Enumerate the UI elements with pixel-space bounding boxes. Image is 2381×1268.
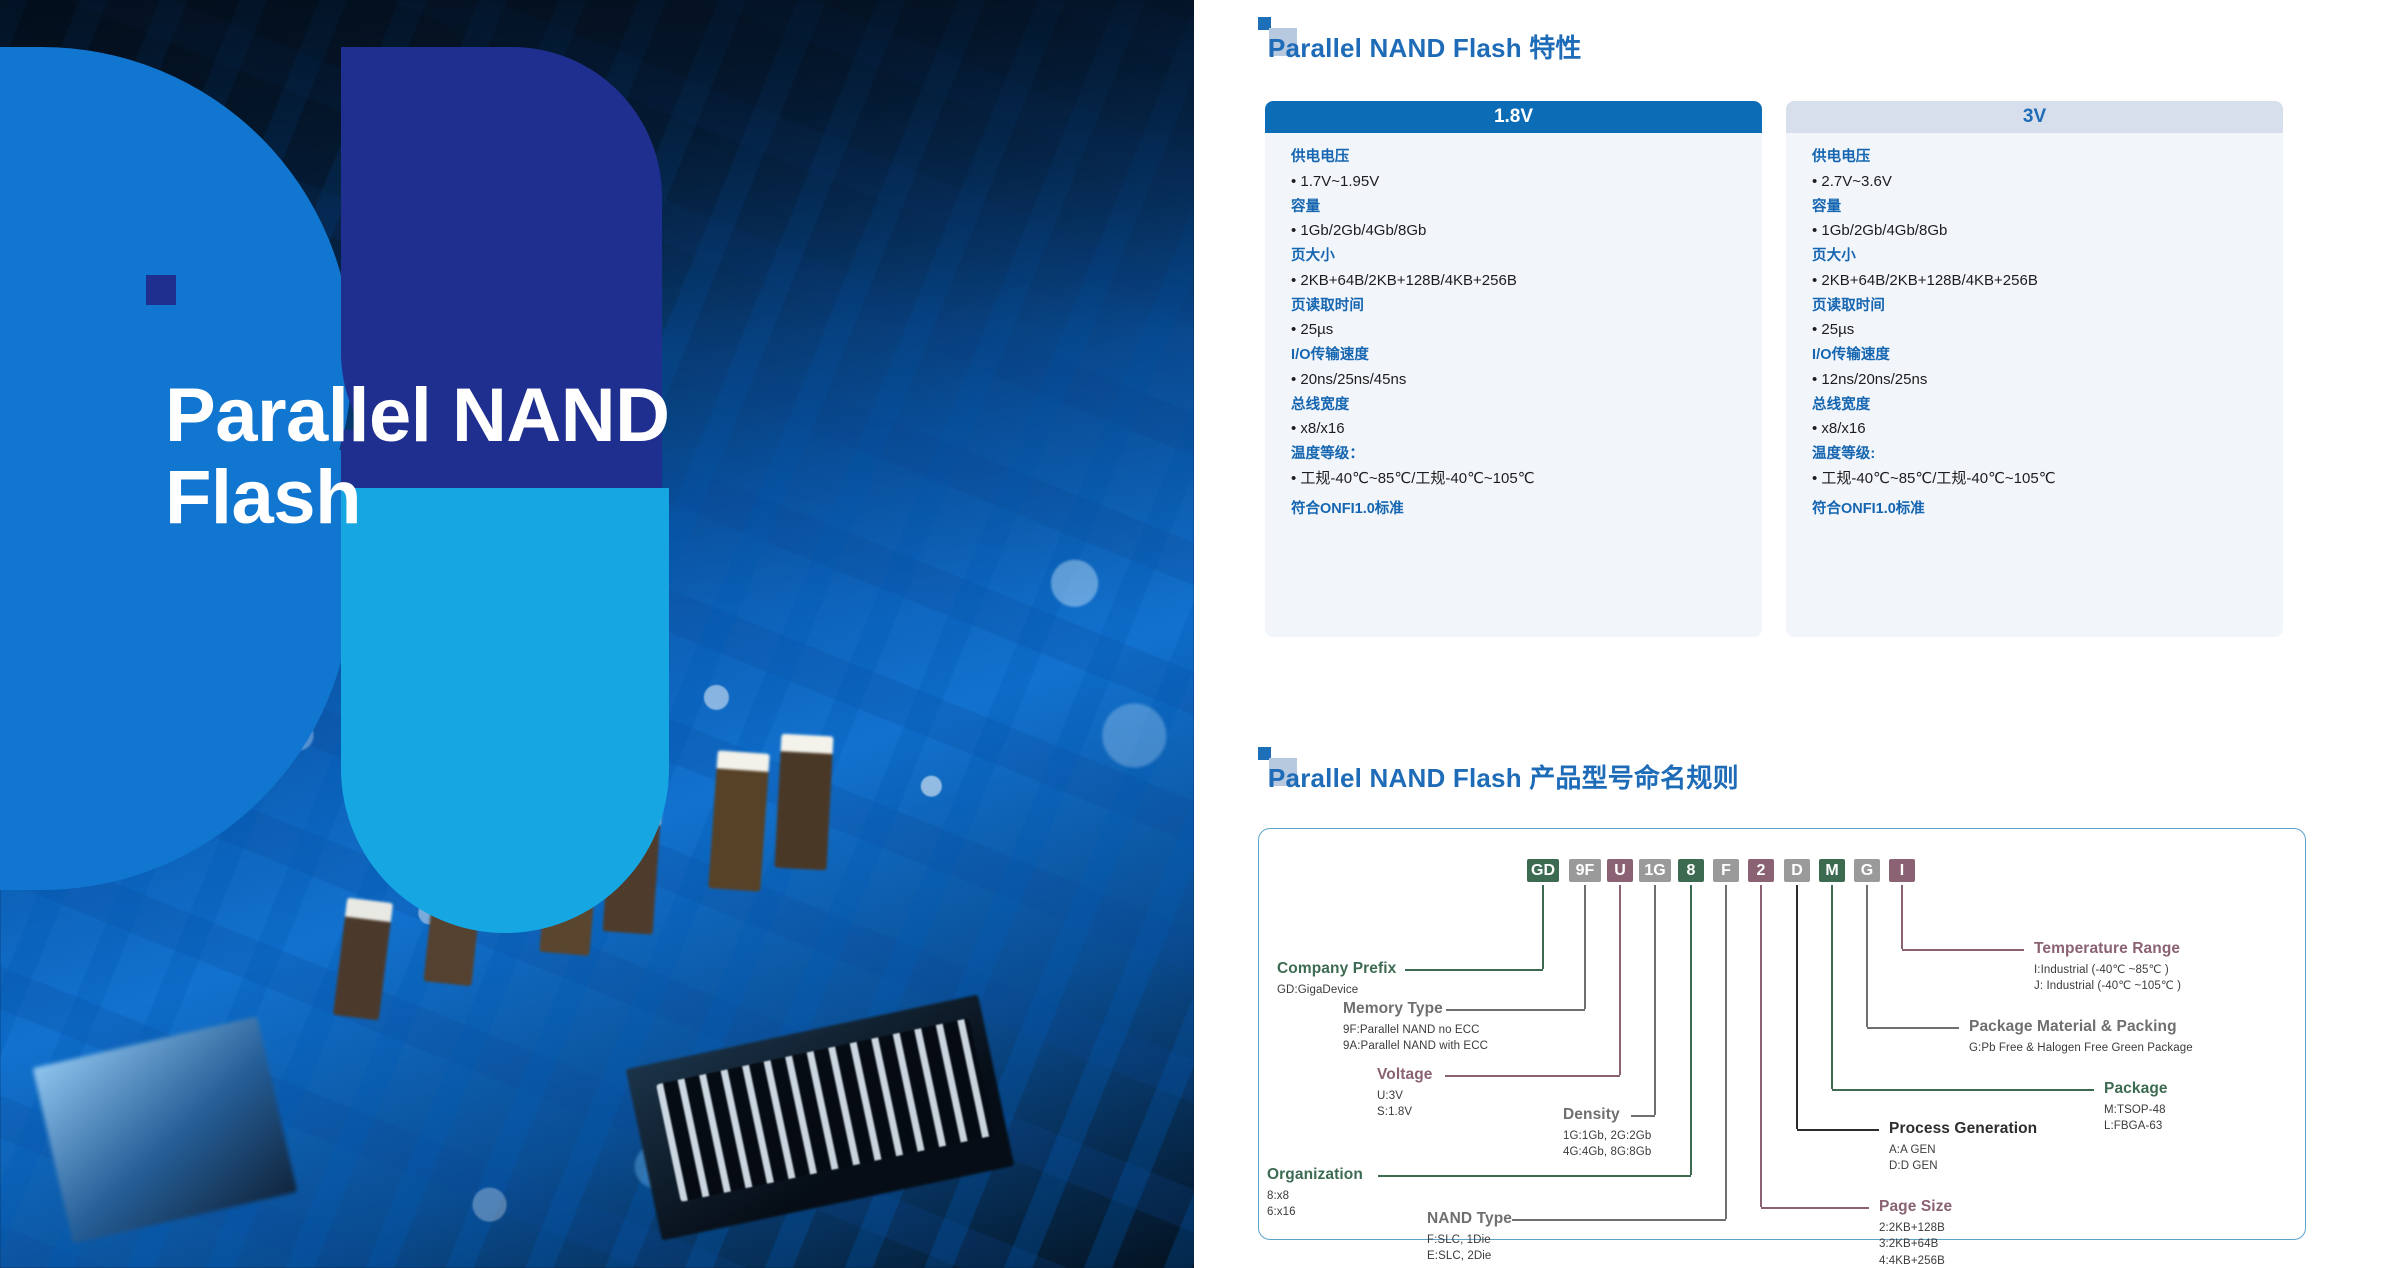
- naming-connector-line: [1797, 1129, 1879, 1131]
- spec-key: 供电电压: [1291, 150, 1762, 165]
- naming-label-detail-line: E:SLC, 2Die: [1427, 1248, 1512, 1265]
- naming-connector-line: [1831, 885, 1833, 1089]
- spec-key: 容量: [1291, 200, 1762, 215]
- naming-label-detail: G:Pb Free & Halogen Free Green Package: [1969, 1040, 2193, 1057]
- slide-page: Parallel NAND Flash Parallel NAND Flash …: [0, 0, 2381, 1268]
- naming-label-page-size: Page Size2:2KB+128B3:2KB+64B4:4KB+256B: [1879, 1199, 1952, 1268]
- spec-value: • 25µs: [1291, 322, 1762, 337]
- part-code-box-g: G: [1854, 859, 1880, 882]
- naming-connector-line: [1867, 1027, 1959, 1029]
- naming-label-detail-line: J: Industrial (-40℃ ~105℃ ): [2034, 978, 2181, 995]
- naming-connector-line: [1760, 885, 1762, 1207]
- naming-label-detail-line: 4:4KB+256B: [1879, 1253, 1952, 1268]
- naming-connector-line: [1378, 1175, 1691, 1177]
- naming-label-detail-line: I:Industrial (-40℃ ~85℃ ): [2034, 962, 2181, 979]
- naming-label-title: Temperature Range: [2034, 941, 2181, 957]
- naming-label-title: Package: [2104, 1081, 2168, 1097]
- spec-key: 页大小: [1291, 249, 1762, 264]
- naming-label-nand-type: NAND TypeF:SLC, 1DieE:SLC, 2Die: [1427, 1211, 1512, 1265]
- naming-label-detail: A:A GEND:D GEN: [1889, 1142, 2037, 1175]
- naming-label-detail-line: D:D GEN: [1889, 1158, 2037, 1175]
- naming-connector-line: [1584, 885, 1586, 1009]
- naming-label-detail-line: 8:x8: [1267, 1188, 1363, 1205]
- spec-value: • 20ns/25ns/45ns: [1291, 372, 1762, 387]
- naming-label-title: Organization: [1267, 1167, 1363, 1183]
- naming-label-detail: GD:GigaDevice: [1277, 982, 1396, 999]
- naming-label-detail-line: A:A GEN: [1889, 1142, 2037, 1159]
- spec-value: • 2KB+64B/2KB+128B/4KB+256B: [1291, 273, 1762, 288]
- naming-label-detail: 2:2KB+128B3:2KB+64B4:4KB+256B: [1879, 1220, 1952, 1268]
- naming-connector-line: [1542, 885, 1544, 969]
- naming-label-detail: 1G:1Gb, 2G:2Gb4G:4Gb, 8G:8Gb: [1563, 1128, 1651, 1161]
- spec-card-3v: 3V 供电电压 • 2.7V~3.6V 容量 • 1Gb/2Gb/4Gb/8Gb…: [1786, 101, 2283, 637]
- spec-value: • 工规-40℃~85℃/工规-40℃~105℃: [1291, 471, 1762, 486]
- spec-key: 温度等级:: [1812, 447, 2283, 462]
- naming-label-temperature-range: Temperature RangeI:Industrial (-40℃ ~85℃…: [2034, 941, 2181, 995]
- part-number-diagram: GD9FU1G8F2DMGICompany PrefixGD:GigaDevic…: [1258, 828, 2306, 1240]
- spec-card-1-8v: 1.8V 供电电压 • 1.7V~1.95V 容量 • 1Gb/2Gb/4Gb/…: [1265, 101, 1762, 637]
- spec-card-body-3v: 供电电压 • 2.7V~3.6V 容量 • 1Gb/2Gb/4Gb/8Gb 页大…: [1786, 133, 2283, 518]
- naming-connector-line: [1725, 885, 1727, 1219]
- spec-value: • x8/x16: [1812, 421, 2283, 436]
- spec-key: 总线宽度: [1812, 398, 2283, 413]
- hero-panel: Parallel NAND Flash: [0, 0, 1194, 1268]
- spec-card-body-1-8v: 供电电压 • 1.7V~1.95V 容量 • 1Gb/2Gb/4Gb/8Gb 页…: [1265, 133, 1762, 518]
- naming-connector-line: [1832, 1089, 2094, 1091]
- spec-key: 页大小: [1812, 249, 2283, 264]
- naming-label-detail-line: 9F:Parallel NAND no ECC: [1343, 1022, 1488, 1039]
- naming-connector-line: [1796, 885, 1798, 1129]
- spec-value: • x8/x16: [1291, 421, 1762, 436]
- spec-key: 供电电压: [1812, 150, 2283, 165]
- naming-label-detail-line: 9A:Parallel NAND with ECC: [1343, 1038, 1488, 1055]
- spec-card-header-3v: 3V: [1786, 101, 2283, 133]
- naming-connector-line: [1761, 1207, 1869, 1209]
- naming-label-title: Voltage: [1377, 1067, 1433, 1083]
- part-code-box-9f: 9F: [1569, 859, 1601, 882]
- naming-label-title: Page Size: [1879, 1199, 1952, 1215]
- naming-connector-line: [1446, 1009, 1585, 1011]
- naming-label-detail-line: 4G:4Gb, 8G:8Gb: [1563, 1144, 1651, 1161]
- part-code-box-u: U: [1607, 859, 1633, 882]
- naming-label-detail-line: 6:x16: [1267, 1204, 1363, 1221]
- naming-connector-line: [1690, 885, 1692, 1175]
- naming-label-detail: U:3VS:1.8V: [1377, 1088, 1433, 1121]
- naming-label-title: Package Material & Packing: [1969, 1019, 2193, 1035]
- logo-cyan-block: [341, 488, 669, 933]
- part-code-box-d: D: [1784, 859, 1810, 882]
- spec-key: 页读取时间: [1291, 299, 1762, 314]
- naming-label-detail-line: G:Pb Free & Halogen Free Green Package: [1969, 1040, 2193, 1057]
- naming-label-organization: Organization8:x86:x16: [1267, 1167, 1363, 1221]
- part-code-box-2: 2: [1748, 859, 1774, 882]
- hero-title-line-2: Flash: [165, 457, 1065, 539]
- part-code-box-m: M: [1819, 859, 1845, 882]
- spec-value: • 25µs: [1812, 322, 2283, 337]
- naming-connector-line: [1654, 885, 1656, 1115]
- naming-label-detail-line: 3:2KB+64B: [1879, 1236, 1952, 1253]
- naming-label-title: NAND Type: [1427, 1211, 1512, 1227]
- naming-connector-line: [1619, 885, 1621, 1075]
- spec-value: • 1.7V~1.95V: [1291, 174, 1762, 189]
- spec-key: 温度等级：: [1291, 447, 1762, 462]
- part-code-box-i: I: [1889, 859, 1915, 882]
- hero-title: Parallel NAND Flash: [165, 375, 1065, 539]
- spec-key: 页读取时间: [1812, 299, 2283, 314]
- naming-label-detail-line: 1G:1Gb, 2G:2Gb: [1563, 1128, 1651, 1145]
- logo-accent-square: [146, 275, 176, 305]
- spec-value: • 工规-40℃~85℃/工规-40℃~105℃: [1812, 471, 2283, 486]
- naming-label-detail: 9F:Parallel NAND no ECC9A:Parallel NAND …: [1343, 1022, 1488, 1055]
- naming-connector-line: [1902, 949, 2024, 951]
- part-code-box-1g: 1G: [1639, 859, 1671, 882]
- spec-value: • 1Gb/2Gb/4Gb/8Gb: [1812, 223, 2283, 238]
- spec-value: • 2KB+64B/2KB+128B/4KB+256B: [1812, 273, 2283, 288]
- spec-key: I/O传输速度: [1812, 348, 2283, 363]
- naming-label-detail-line: U:3V: [1377, 1088, 1433, 1105]
- spec-value: • 2.7V~3.6V: [1812, 174, 2283, 189]
- hero-title-line-1: Parallel NAND: [165, 375, 1065, 457]
- spec-card-header-1-8v: 1.8V: [1265, 101, 1762, 133]
- naming-label-package: PackageM:TSOP-48L:FBGA-63: [2104, 1081, 2168, 1135]
- naming-label-title: Company Prefix: [1277, 961, 1396, 977]
- naming-connector-line: [1405, 969, 1543, 971]
- section-title-naming: Parallel NAND Flash 产品型号命名规则: [1268, 758, 1739, 795]
- naming-label-company-prefix: Company PrefixGD:GigaDevice: [1277, 961, 1396, 998]
- spec-key: 总线宽度: [1291, 398, 1762, 413]
- naming-label-detail-line: M:TSOP-48: [2104, 1102, 2168, 1119]
- naming-connector-line: [1512, 1219, 1726, 1221]
- naming-label-detail-line: GD:GigaDevice: [1277, 982, 1396, 999]
- naming-connector-line: [1631, 1115, 1655, 1117]
- naming-label-detail: I:Industrial (-40℃ ~85℃ )J: Industrial (…: [2034, 962, 2181, 995]
- naming-label-detail: M:TSOP-48L:FBGA-63: [2104, 1102, 2168, 1135]
- spec-value: • 1Gb/2Gb/4Gb/8Gb: [1291, 223, 1762, 238]
- part-code-box-8: 8: [1678, 859, 1704, 882]
- naming-label-detail-line: F:SLC, 1Die: [1427, 1232, 1512, 1249]
- part-code-box-f: F: [1713, 859, 1739, 882]
- naming-label-package-material-packing: Package Material & PackingG:Pb Free & Ha…: [1969, 1019, 2193, 1056]
- naming-label-detail: 8:x86:x16: [1267, 1188, 1363, 1221]
- naming-connector-line: [1445, 1075, 1620, 1077]
- part-code-box-gd: GD: [1527, 859, 1559, 882]
- spec-key: I/O传输速度: [1291, 348, 1762, 363]
- naming-label-detail-line: S:1.8V: [1377, 1104, 1433, 1121]
- naming-connector-line: [1866, 885, 1868, 1027]
- naming-connector-line: [1901, 885, 1903, 949]
- spec-value: • 12ns/20ns/25ns: [1812, 372, 2283, 387]
- naming-label-title: Process Generation: [1889, 1121, 2037, 1137]
- naming-label-detail: F:SLC, 1DieE:SLC, 2Die: [1427, 1232, 1512, 1265]
- section-title-features: Parallel NAND Flash 特性: [1268, 28, 1582, 65]
- naming-label-voltage: VoltageU:3VS:1.8V: [1377, 1067, 1433, 1121]
- spec-key: 容量: [1812, 200, 2283, 215]
- content-panel: Parallel NAND Flash 特性 1.8V 供电电压 • 1.7V~…: [1194, 0, 2381, 1268]
- naming-label-detail-line: L:FBGA-63: [2104, 1118, 2168, 1135]
- spec-note: 符合ONFI1.0标准: [1291, 497, 1762, 518]
- spec-note: 符合ONFI1.0标准: [1812, 497, 2283, 518]
- naming-label-process-generation: Process GenerationA:A GEND:D GEN: [1889, 1121, 2037, 1175]
- naming-label-detail-line: 2:2KB+128B: [1879, 1220, 1952, 1237]
